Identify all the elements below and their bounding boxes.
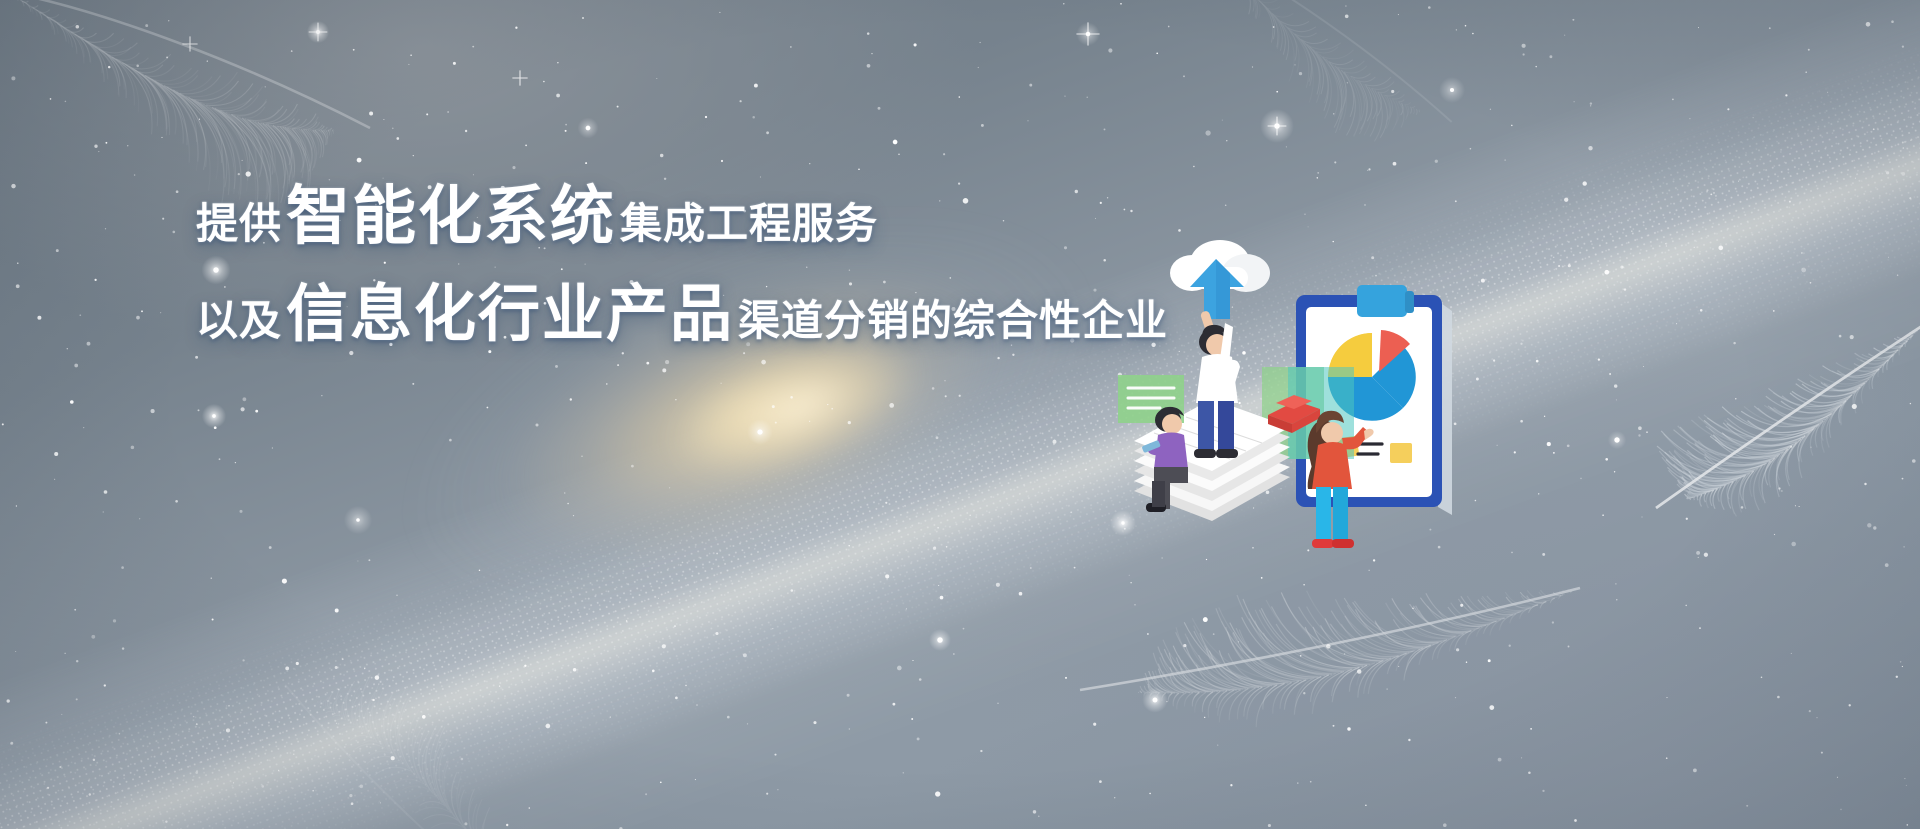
business-teamwork-illustration (1120, 215, 1520, 565)
headline-line2-emphasis: 信息化行业产品 (286, 284, 734, 346)
headline-line-2: 以及 信息化行业产品 渠道分销的综合性企业 (196, 284, 1168, 348)
headline-line2-suffix: 渠道分销的综合性企业 (738, 287, 1168, 348)
headline-block: 提供 智能化系统 集成工程服务 以及 信息化行业产品 渠道分销的综合性企业 (196, 185, 1168, 348)
headline-line1-emphasis: 智能化系统 (286, 185, 616, 249)
headline-line2-prefix: 以及 (196, 287, 282, 348)
hero-banner: 提供 智能化系统 集成工程服务 以及 信息化行业产品 渠道分销的综合性企业 (0, 0, 1920, 829)
headline-line1-prefix: 提供 (196, 190, 282, 251)
star-field (0, 0, 1920, 829)
headline-line-1: 提供 智能化系统 集成工程服务 (196, 185, 1168, 251)
headline-line1-suffix: 集成工程服务 (620, 190, 878, 251)
